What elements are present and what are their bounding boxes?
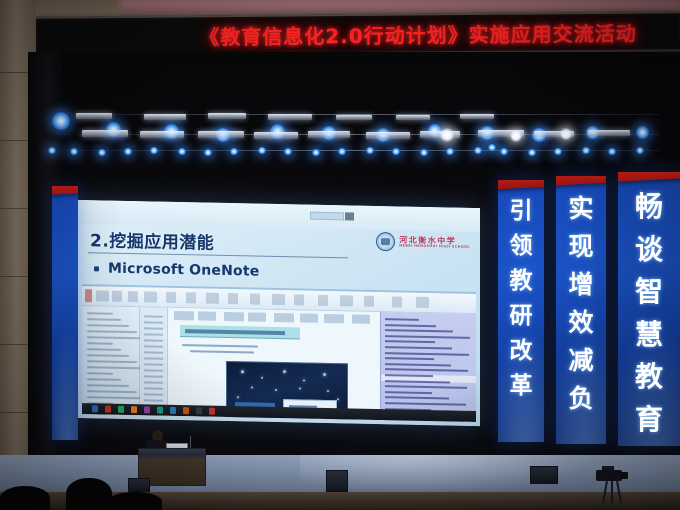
banner-char: 智 (635, 271, 663, 314)
ribbon-buttons (82, 286, 476, 294)
banner-char: 教 (635, 356, 663, 399)
banner-top-decoration-3 (618, 172, 680, 182)
stage-light-blue-small (258, 147, 266, 154)
bullet-point-icon (94, 266, 99, 271)
ribbon-button (294, 294, 304, 305)
ribbon-button (166, 292, 176, 303)
embedded-app-screenshot (82, 284, 476, 422)
school-logo: 河北衡水中学 HEBEI HENGSHUI HIGH SCHOOL (376, 232, 470, 253)
camera-lens (620, 472, 628, 479)
page-tabs (174, 311, 374, 315)
stage-light-blue-small (98, 149, 106, 156)
right-pane-line (385, 329, 453, 332)
stage-light-white (560, 128, 572, 140)
vertical-banner-2: 实现增效减负 (556, 176, 606, 444)
stage-light-blue-small (636, 147, 644, 154)
audience-silhouette-2 (108, 492, 162, 510)
right-pane-line (385, 402, 466, 406)
photo-light-dot (303, 380, 305, 382)
light-fixture (308, 131, 350, 138)
projection-screen: 2.挖掘应用潜能 河北衡水中学 HEBEI HENGSHUI HIGH SCHO… (74, 200, 480, 426)
ribbon-button (318, 295, 328, 306)
vertical-banner-1: 引领教研改革 (498, 180, 544, 442)
sidebar-entry (87, 354, 129, 357)
banner-deco-leftmost (52, 186, 78, 195)
conference-stage-photo: 《教育信息化2.0行动计划》实施应用交流活动 2.挖掘应用潜能 河北衡水 (0, 0, 680, 510)
sidebar-entry (87, 312, 113, 315)
photo-light-dot (299, 387, 301, 389)
right-pane-line (385, 346, 452, 349)
stage-light-blue-small (528, 149, 536, 156)
led-banner-text: 《教育信息化2.0行动计划》实施应用交流活动 (79, 17, 637, 51)
right-pane-line (385, 391, 432, 394)
stage-light-blue-small (488, 144, 496, 151)
stage-monitor-right (530, 466, 558, 484)
section-entry (144, 393, 163, 395)
right-pane-line (385, 385, 467, 389)
right-pane-line (385, 380, 450, 383)
banner-char: 减 (568, 342, 593, 380)
banner-char: 改 (510, 334, 533, 369)
taskbar-icon (170, 407, 176, 414)
light-fixture (460, 114, 494, 119)
banner-text-2: 实现增效减负 (556, 190, 606, 418)
page-tab (274, 313, 294, 322)
light-fixture (76, 113, 112, 119)
slide-bullet-row: Microsoft OneNote (94, 260, 259, 279)
photo-light-dot (261, 377, 263, 379)
section-entry (144, 345, 163, 347)
photo-light-dot (327, 390, 329, 392)
taskbar-icon (183, 407, 189, 414)
taskbar-icon (118, 406, 124, 413)
banner-top-decoration-1 (498, 180, 544, 189)
light-fixture (268, 114, 312, 120)
section-entry (144, 339, 163, 341)
section-entry (144, 387, 163, 389)
led-banner-inner: 《教育信息化2.0行动计划》实施应用交流活动 (38, 15, 678, 53)
stage-light-blue-small (284, 148, 292, 155)
stage-light-blue-small (500, 148, 508, 155)
photo-light-dot (251, 386, 253, 388)
stage-light-blue-small (446, 148, 454, 155)
ribbon-button (228, 293, 238, 304)
school-name: 河北衡水中学 HEBEI HENGSHUI HIGH SCHOOL (399, 236, 470, 249)
ribbon-button (96, 290, 109, 301)
section-entry (144, 399, 163, 401)
section-entry (144, 327, 163, 329)
stage-light-white (510, 130, 522, 142)
stage-light-blue-small (150, 147, 158, 154)
vertical-banner-3: 畅谈智慧教育 (618, 172, 680, 446)
stage-light-blue-small (312, 149, 320, 156)
banner-char: 领 (510, 229, 533, 264)
page-tab (174, 311, 194, 320)
right-pane-line (385, 363, 451, 366)
banner-char: 实 (568, 190, 593, 228)
app-right-pane (380, 312, 476, 411)
stage-light-blue-small (48, 147, 56, 154)
section-entry (144, 321, 163, 323)
sidebar-entry (87, 342, 113, 345)
banner-char: 教 (510, 264, 533, 299)
right-pane-line (385, 369, 468, 373)
section-entry (144, 381, 163, 383)
ribbon-button (340, 295, 353, 306)
app-notebook-sidebar (82, 306, 140, 404)
light-fixture (82, 130, 128, 137)
banner-char: 畅 (635, 186, 663, 229)
stage-light-blue-small (420, 149, 428, 156)
page-tab (198, 311, 216, 320)
slide-bullet-text: Microsoft OneNote (108, 261, 259, 280)
taskbar-icon (131, 406, 137, 413)
photo-light-dot (275, 389, 277, 391)
photo-light-dot (237, 396, 239, 398)
banner-char: 革 (510, 369, 533, 404)
app-section-column (140, 307, 168, 405)
page-tab (324, 314, 344, 323)
sidebar-entry (87, 324, 129, 327)
photo-light-dots (227, 362, 347, 364)
section-entry (144, 363, 163, 365)
sidebar-entry (87, 360, 137, 363)
taskbar-icon (196, 407, 202, 414)
banner-text-3: 畅谈智慧教育 (618, 186, 680, 441)
light-fixture (588, 130, 630, 136)
slide-header-tag (310, 212, 344, 221)
sidebar-entry (87, 390, 137, 393)
photo-light-dot (283, 370, 286, 373)
right-pane-line (385, 357, 434, 360)
ribbon-button (186, 292, 196, 303)
light-fixture (198, 131, 244, 138)
page-tab-strip (174, 311, 374, 324)
sidebar-entry (87, 330, 137, 333)
stage-light-blue-small (204, 149, 212, 156)
banner-char: 现 (568, 228, 593, 266)
sidebar-entry (87, 336, 145, 339)
banner-char: 引 (510, 194, 533, 229)
ribbon-button (364, 296, 374, 307)
stage-light-blue-small (582, 147, 590, 154)
sidebar-entry (87, 372, 113, 375)
slide-header-tag-dark (345, 212, 354, 220)
ribbon-button (128, 291, 138, 302)
stage-monitor-left (128, 478, 150, 492)
banner-char: 效 (568, 304, 593, 342)
slide-title-underline (88, 252, 348, 258)
sidebar-entry (87, 384, 129, 387)
stage-light-blue-small (124, 148, 132, 155)
led-banner: 《教育信息化2.0行动计划》实施应用交流活动 (36, 11, 680, 57)
school-name-subtitle: HEBEI HENGSHUI HIGH SCHOOL (399, 244, 470, 249)
section-entries (140, 307, 167, 308)
taskbar-icon (105, 406, 111, 413)
stage-light-blue-small (178, 148, 186, 155)
light-fixture (208, 113, 246, 119)
banner-char: 负 (568, 380, 593, 418)
ribbon-button (144, 291, 157, 302)
page-tab (300, 313, 318, 322)
stage-light-blue-small (366, 147, 374, 154)
audience-silhouette-1 (66, 478, 112, 510)
light-fixture (366, 132, 410, 139)
sidebar-entry (87, 348, 121, 351)
app-note-page (168, 308, 380, 409)
taskbar-icon (144, 406, 150, 413)
ribbon-button (250, 293, 260, 304)
ribbon-button (392, 296, 402, 307)
sidebar-entry (87, 396, 145, 399)
stage-light-blue (636, 126, 649, 139)
section-entry (144, 417, 163, 419)
right-pane-line (385, 335, 470, 339)
photo-light-dot (241, 370, 244, 373)
stage-light-blue-small (70, 148, 78, 155)
slide-title: 2.挖掘应用潜能 (90, 226, 214, 253)
banner-top-decoration-2 (556, 176, 606, 185)
sidebar-entry (87, 366, 145, 369)
light-fixture (396, 115, 430, 120)
section-entry (144, 333, 163, 335)
note-page-heading (180, 325, 300, 339)
banner-char: 育 (635, 399, 663, 442)
taskbar-icon (209, 408, 215, 415)
banner-char: 谈 (635, 229, 663, 272)
ribbon-button (272, 294, 285, 305)
lighting-truss (40, 100, 660, 166)
photo-light-dot (323, 373, 326, 376)
light-fixture (336, 115, 372, 120)
stage-light-blue-small (554, 148, 562, 155)
sidebar-entries (82, 306, 139, 307)
banner-text-1: 引领教研改革 (498, 194, 544, 404)
stage-light-blue-small (230, 148, 238, 155)
ribbon-button (416, 297, 429, 308)
section-entry (144, 375, 163, 377)
section-entry (144, 357, 163, 359)
audience-silhouette-3 (0, 486, 50, 510)
right-pane-line (385, 324, 436, 327)
banner-leftmost-partial (52, 186, 78, 440)
ribbon-file-tab (85, 289, 92, 302)
taskbar-icon (92, 405, 98, 412)
ribbon-button (206, 293, 219, 304)
right-pane-line (385, 318, 419, 321)
stage-light-blue-small (338, 148, 346, 155)
banner-char: 增 (568, 266, 593, 304)
section-entry (144, 315, 163, 317)
taskbar-icon (157, 407, 163, 414)
presentation-slide: 2.挖掘应用潜能 河北衡水中学 HEBEI HENGSHUI HIGH SCHO… (74, 200, 480, 426)
stage-light-blue-small (392, 148, 400, 155)
page-tab (224, 312, 244, 321)
photo-light-dot (337, 398, 339, 400)
section-entry (144, 369, 163, 371)
camera-body (596, 470, 622, 481)
video-camera (596, 468, 630, 484)
page-tab (248, 312, 266, 321)
school-seal-icon (376, 232, 395, 251)
section-entry (144, 351, 163, 353)
stage-light-blue (52, 112, 70, 130)
ribbon-button (112, 291, 122, 302)
note-text-line (182, 344, 258, 348)
banner-char: 慧 (635, 314, 663, 357)
right-pane-line (385, 352, 469, 356)
light-fixture (144, 114, 186, 120)
right-pane-line (385, 397, 449, 400)
banner-char: 研 (510, 299, 533, 334)
light-fixture (254, 132, 298, 139)
stage-light-white (440, 128, 454, 142)
page-tab (352, 315, 370, 324)
stage-light-blue-small (608, 148, 616, 155)
stage-monitor-center (326, 470, 348, 492)
note-text-line (190, 350, 254, 353)
light-fixture (140, 131, 184, 138)
right-pane-line (385, 341, 435, 344)
camera-tripod (604, 481, 620, 503)
stage-light-blue-small (474, 147, 482, 154)
sidebar-entry (87, 378, 121, 381)
sidebar-entry (87, 318, 121, 321)
